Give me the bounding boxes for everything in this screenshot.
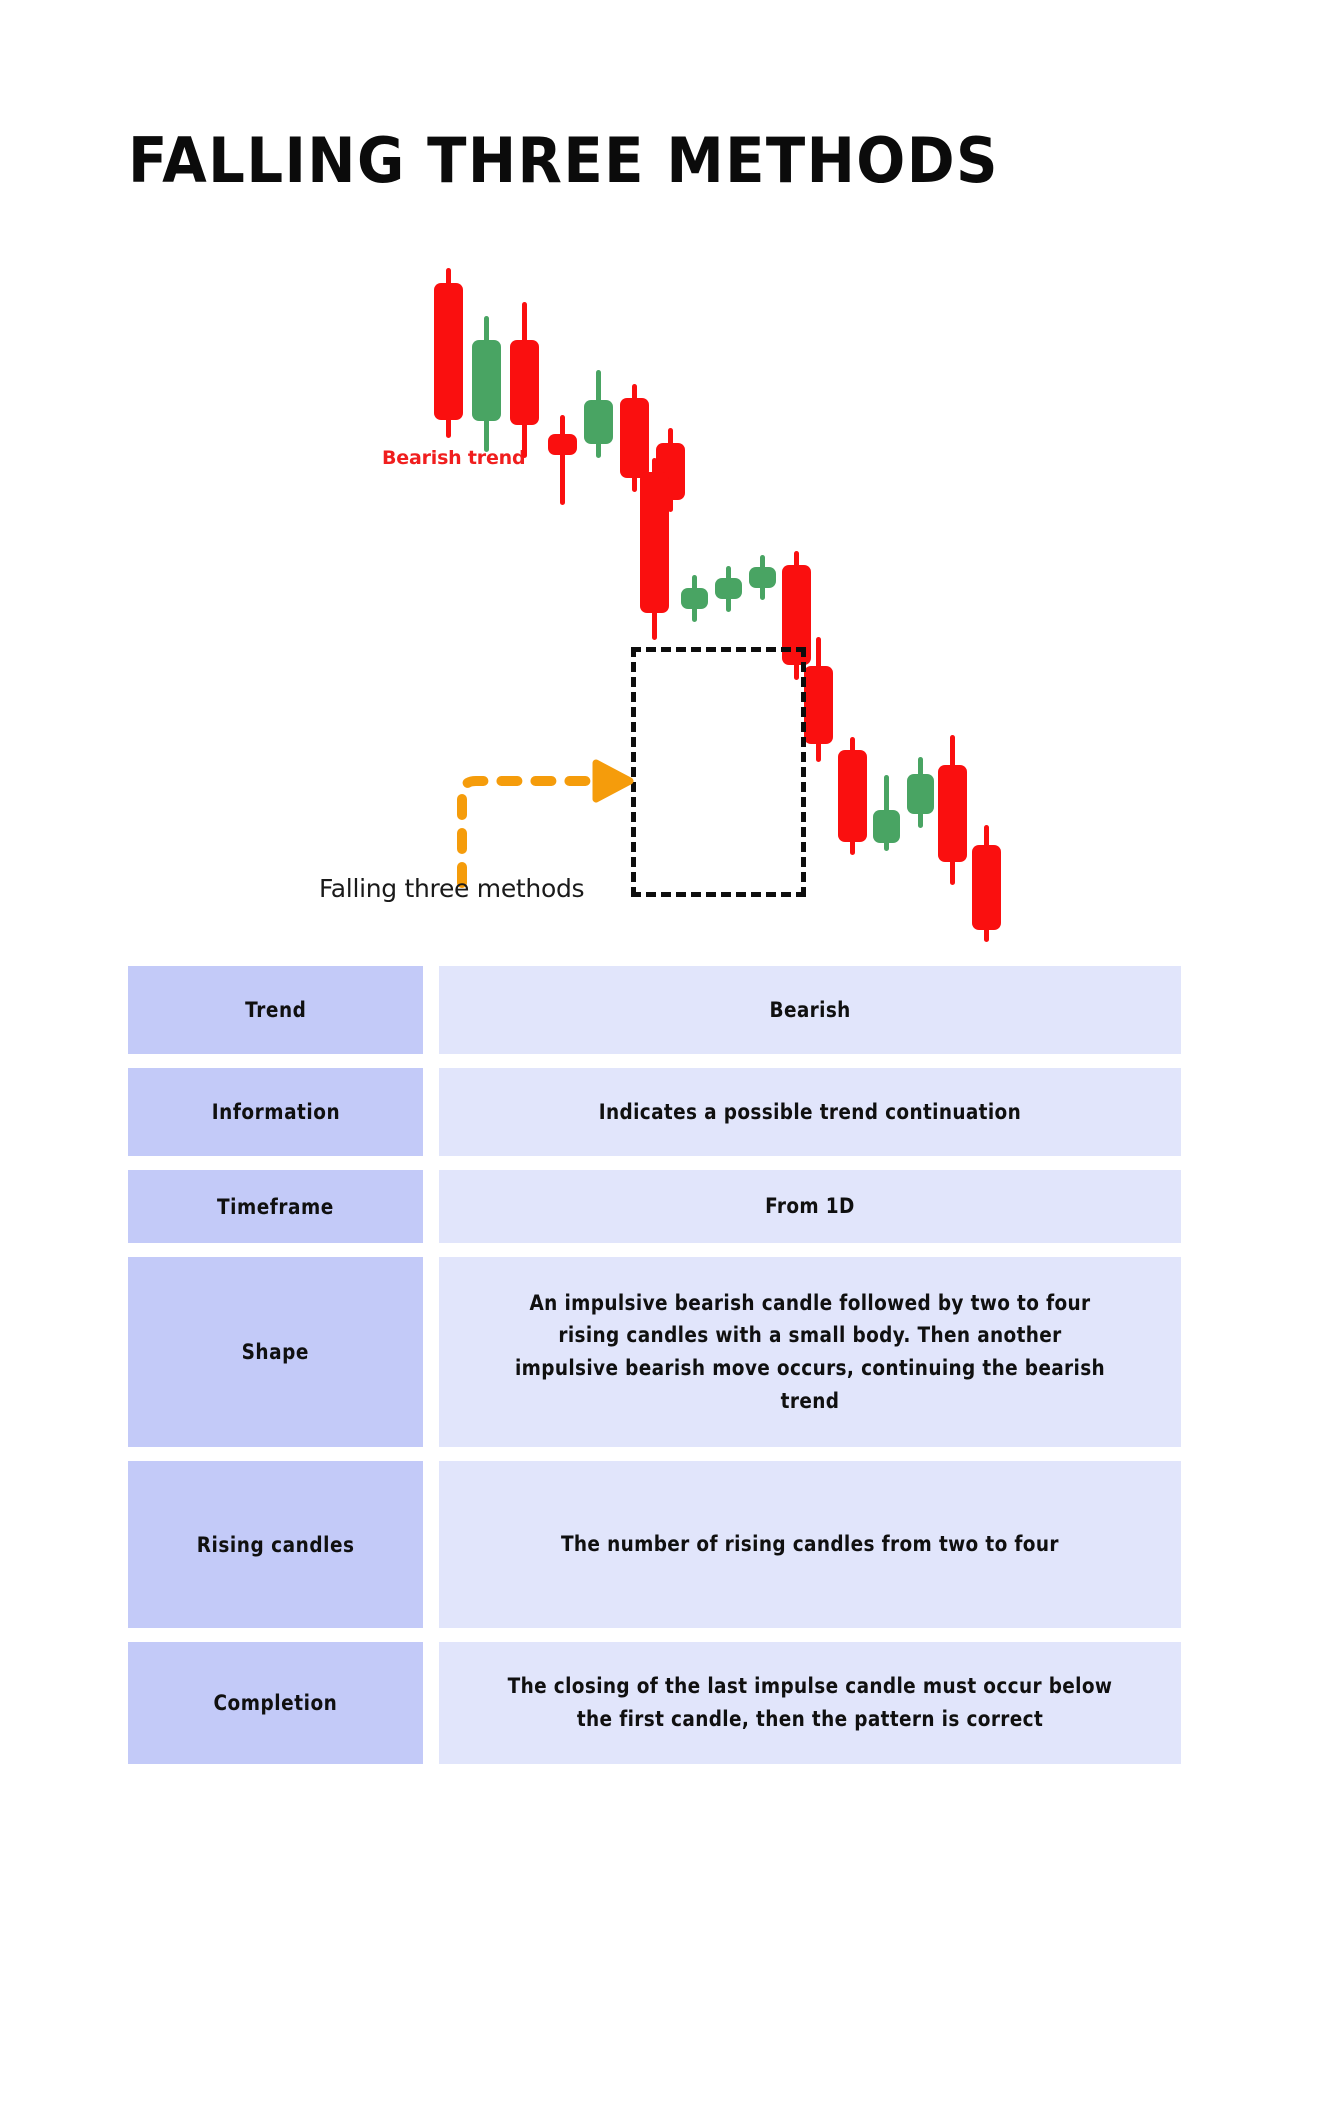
table-row-value: The closing of the last impulse candle m… [439, 1642, 1181, 1764]
table-row-label-text: Rising candles [197, 1533, 355, 1557]
candle-body [434, 283, 463, 420]
table-row: TrendBearish [128, 966, 1181, 1054]
candlestick-chart: Bearish trend Falling three methods [0, 215, 1323, 955]
table-row-label: Shape [128, 1257, 423, 1447]
table-row: TimeframeFrom 1D [128, 1170, 1181, 1243]
pattern-name-label: Falling three methods [319, 874, 584, 903]
candle-body [838, 750, 867, 842]
candle-body [938, 765, 967, 862]
table-row-value: Indicates a possible trend continuation [439, 1068, 1181, 1156]
table-row: InformationIndicates a possible trend co… [128, 1068, 1181, 1156]
table-row-value-text: The number of rising candles from two to… [561, 1528, 1059, 1561]
page-title: FALLING THREE METHODS [128, 128, 999, 193]
pattern-spec-table: TrendBearishInformationIndicates a possi… [128, 966, 1181, 1778]
table-row: Rising candlesThe number of rising candl… [128, 1461, 1181, 1628]
table-row: ShapeAn impulsive bearish candle followe… [128, 1257, 1181, 1447]
table-row-value-text: The closing of the last impulse candle m… [506, 1670, 1113, 1735]
table-row-value: Bearish [439, 966, 1181, 1054]
table-row-label-text: Timeframe [217, 1195, 334, 1219]
candlestick-12 [804, 637, 833, 762]
candlestick-2 [510, 302, 539, 458]
candlestick-7 [640, 458, 669, 640]
table-row-label-text: Shape [242, 1340, 309, 1364]
candle-body [472, 340, 501, 421]
table-row-value: The number of rising candles from two to… [439, 1461, 1181, 1628]
table-row-value-text: Bearish [769, 994, 850, 1027]
candlestick-0 [434, 268, 463, 438]
candle-body [548, 434, 577, 455]
table-row-value: From 1D [439, 1170, 1181, 1243]
table-row-label: Information [128, 1068, 423, 1156]
candlestick-4 [584, 370, 613, 458]
candle-body [640, 472, 669, 613]
table-row-label: Completion [128, 1642, 423, 1764]
candle-body [907, 774, 934, 814]
table-row-label: Trend [128, 966, 423, 1054]
table-row-label-text: Trend [245, 998, 306, 1022]
candlestick-14 [873, 775, 900, 851]
candlestick-9 [715, 566, 742, 612]
candle-body [510, 340, 539, 425]
candlestick-17 [972, 825, 1001, 942]
candle-body [584, 400, 613, 444]
table-row: CompletionThe closing of the last impuls… [128, 1642, 1181, 1764]
infographic-page: FALLING THREE METHODS Bearish trend Fall… [0, 0, 1323, 2111]
candlestick-3 [548, 415, 577, 505]
table-row-label-text: Information [211, 1100, 339, 1124]
candle-body [715, 578, 742, 599]
candlestick-1 [472, 316, 501, 452]
candlestick-16 [938, 735, 967, 885]
pattern-pointer-arrow [430, 755, 650, 885]
table-row-label: Rising candles [128, 1461, 423, 1628]
candle-body [749, 567, 776, 588]
candlestick-13 [838, 737, 867, 855]
candle-body [681, 588, 708, 609]
table-row-label-text: Completion [214, 1691, 338, 1715]
candle-body [804, 666, 833, 744]
candlestick-15 [907, 757, 934, 828]
candle-wick [560, 415, 565, 505]
table-row-value: An impulsive bearish candle followed by … [439, 1257, 1181, 1447]
candle-body [873, 810, 900, 843]
candlestick-10 [749, 555, 776, 600]
candle-body [972, 845, 1001, 930]
candlestick-8 [681, 575, 708, 622]
table-row-value-text: Indicates a possible trend continuation [599, 1096, 1021, 1129]
table-row-value-text: An impulsive bearish candle followed by … [506, 1287, 1113, 1417]
bearish-trend-annotation: Bearish trend [382, 447, 525, 469]
table-row-value-text: From 1D [765, 1190, 855, 1223]
pattern-highlight-box [631, 647, 806, 897]
table-row-label: Timeframe [128, 1170, 423, 1243]
